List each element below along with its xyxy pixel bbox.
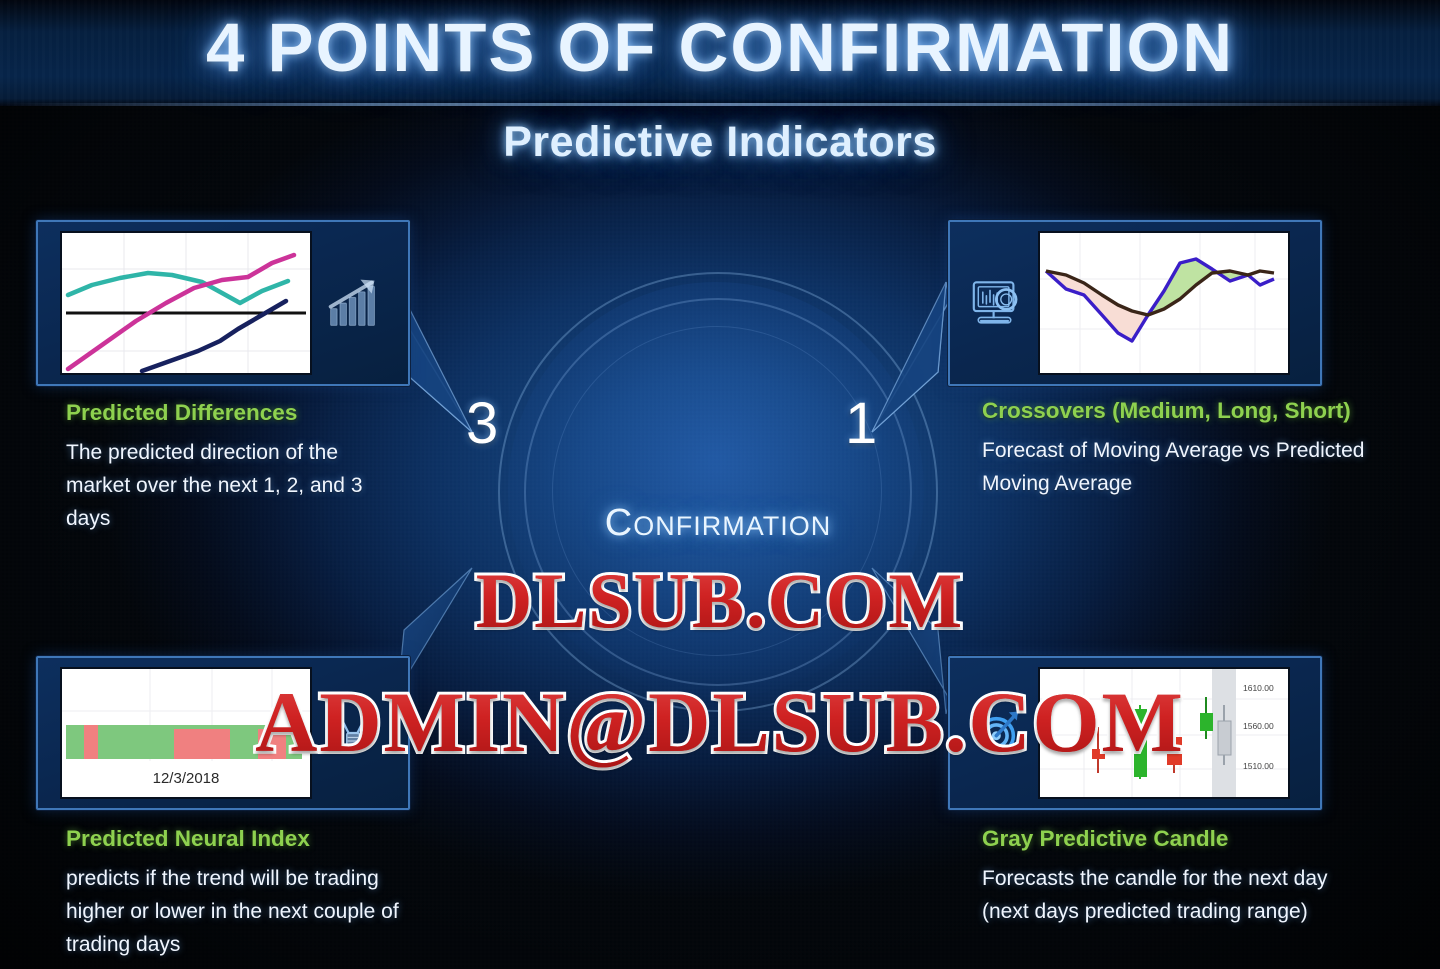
panel-title-predicted-differences: Predicted Differences: [66, 400, 297, 426]
page-title: 4 POINTS OF CONFIRMATION: [0, 8, 1440, 87]
panel-desc-neural-index: predicts if the trend will be trading hi…: [66, 862, 426, 961]
thumbnail-crossovers: [1038, 231, 1290, 375]
watermark-line2: ADMIN@DLSUB.COM: [0, 672, 1440, 772]
panel-title-neural-index: Predicted Neural Index: [66, 826, 310, 852]
panel-desc-predicted-differences: The predicted direction of the market ov…: [66, 436, 396, 535]
panel-box-top-left: [36, 220, 410, 386]
spoke-number-3: 3: [466, 390, 498, 457]
watermark-line1: DLSUB.COM: [0, 556, 1440, 646]
spoke-number-1: 1: [845, 390, 877, 457]
bar-chart-growth-icon: [316, 233, 390, 373]
panel-title-gray-candle: Gray Predictive Candle: [982, 826, 1228, 852]
slide-canvas: Confirmation 3 1 2 4: [0, 0, 1440, 969]
neural-index-date-label: 12/3/2018: [153, 770, 220, 787]
page-subtitle: Predictive Indicators: [0, 118, 1440, 167]
panel-desc-crossovers: Forecast of Moving Average vs Predicted …: [982, 434, 1382, 500]
panel-title-crossovers: Crossovers (Medium, Long, Short): [982, 398, 1351, 424]
thumbnail-predicted-differences: [60, 231, 312, 375]
center-confirmation-label: Confirmation: [498, 502, 938, 545]
panel-desc-gray-candle: Forecasts the candle for the next day (n…: [982, 862, 1342, 928]
monitor-chart-icon: [962, 233, 1036, 373]
panel-box-top-right: [948, 220, 1322, 386]
